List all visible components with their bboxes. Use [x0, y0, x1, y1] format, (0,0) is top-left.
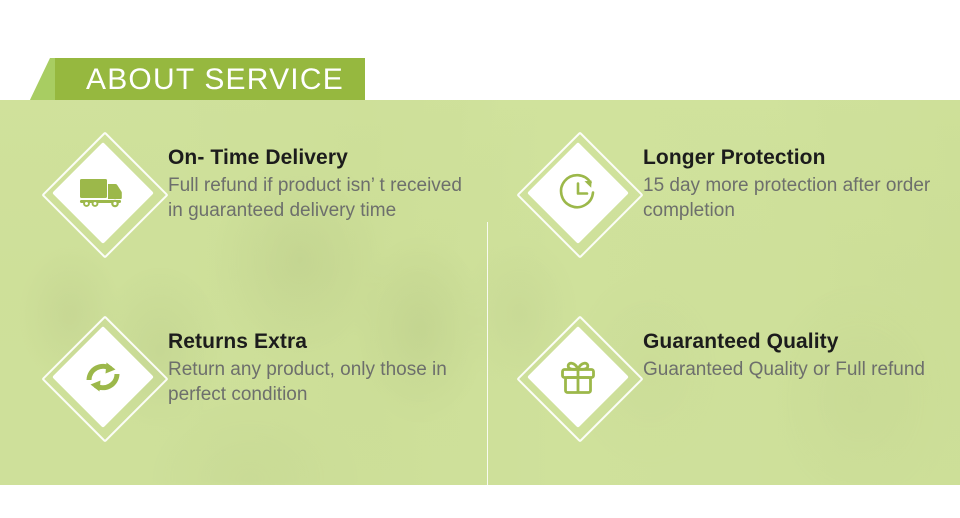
feature-title: Guaranteed Quality: [643, 330, 960, 354]
feature-title: Longer Protection: [643, 146, 960, 170]
clock-refresh-icon: [550, 165, 606, 221]
refresh-cycle-icon: [75, 349, 131, 405]
feature-text: Returns Extra Return any product, only t…: [158, 322, 468, 407]
gift-icon: [550, 349, 606, 405]
about-service-banner: ABOUT SERVICE On- Time Delivery: [0, 0, 960, 518]
feature-on-time-delivery: On- Time Delivery Full refund if product…: [48, 138, 468, 248]
feature-text: On- Time Delivery Full refund if product…: [158, 138, 468, 223]
feature-icon-wrapper: [523, 138, 633, 248]
feature-title: Returns Extra: [168, 330, 468, 354]
feature-description: Guaranteed Quality or Full refund: [643, 357, 960, 382]
feature-longer-protection: Longer Protection 15 day more protection…: [523, 138, 960, 248]
feature-icon-wrapper: [48, 322, 158, 432]
vertical-divider: [487, 222, 488, 485]
feature-description: 15 day more protection after order compl…: [643, 173, 960, 223]
feature-returns-extra: Returns Extra Return any product, only t…: [48, 322, 468, 432]
feature-description: Return any product, only those in perfec…: [168, 357, 468, 407]
feature-description: Full refund if product isn’ t received i…: [168, 173, 468, 223]
truck-icon: [75, 165, 131, 221]
feature-title: On- Time Delivery: [168, 146, 468, 170]
feature-icon-wrapper: [48, 138, 158, 248]
feature-guaranteed-quality: Guaranteed Quality Guaranteed Quality or…: [523, 322, 960, 432]
feature-icon-wrapper: [523, 322, 633, 432]
page-title: ABOUT SERVICE: [86, 60, 386, 100]
feature-text: Guaranteed Quality Guaranteed Quality or…: [633, 322, 960, 382]
feature-text: Longer Protection 15 day more protection…: [633, 138, 960, 223]
